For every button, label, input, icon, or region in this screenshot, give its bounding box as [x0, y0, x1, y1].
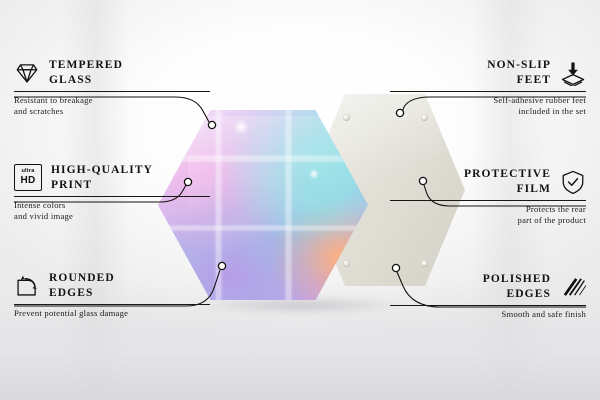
feature-non-slip-feet: NON-SLIP FEET Self-adhesive rubber feet … [390, 58, 586, 117]
feature-title: HIGH-QUALITY PRINT [51, 163, 153, 192]
glass-highlight-sparkle [308, 168, 320, 180]
feature-header: PROTECTIVE FILM [390, 167, 586, 196]
feature-title: ROUNDED EDGES [49, 271, 115, 300]
rubber-foot [343, 260, 350, 267]
feature-header: ultra HD HIGH-QUALITY PRINT [14, 163, 210, 192]
infographic-canvas: TEMPERED GLASS Resistant to breakage and… [0, 0, 600, 400]
feature-divider [390, 305, 586, 306]
feature-divider [14, 91, 210, 92]
feature-polished-edges: POLISHED EDGES Smooth and safe finish [390, 272, 586, 320]
shield-check-icon [560, 169, 586, 195]
feature-divider [390, 91, 586, 92]
feature-title: TEMPERED GLASS [49, 58, 123, 87]
badge-hd-label: HD [20, 176, 35, 186]
feature-header: ROUNDED EDGES [14, 271, 210, 300]
rubber-foot [421, 260, 428, 267]
feature-divider [14, 304, 210, 305]
ultra-hd-badge-icon: ultra HD [14, 164, 42, 191]
feature-description: Prevent potential glass damage [14, 308, 210, 319]
glass-highlight-sparkle [232, 118, 250, 136]
feature-description: Self-adhesive rubber feet included in th… [390, 95, 586, 117]
rounded-corner-icon [14, 273, 40, 299]
feature-tempered-glass: TEMPERED GLASS Resistant to breakage and… [14, 58, 210, 117]
rubber-foot [343, 114, 350, 121]
feature-header: NON-SLIP FEET [390, 58, 586, 87]
feature-protective-film: PROTECTIVE FILM Protects the rear part o… [390, 167, 586, 226]
feature-divider [14, 196, 210, 197]
feature-header: POLISHED EDGES [390, 272, 586, 301]
feature-title: NON-SLIP FEET [487, 58, 551, 87]
feature-description: Resistant to breakage and scratches [14, 95, 210, 117]
feature-description: Protects the rear part of the product [390, 204, 586, 226]
feature-title: PROTECTIVE FILM [464, 167, 551, 196]
feature-high-quality-print: ultra HD HIGH-QUALITY PRINT Intense colo… [14, 163, 210, 222]
badge-ultra-label: ultra [21, 169, 34, 175]
feature-rounded-edges: ROUNDED EDGES Prevent potential glass da… [14, 271, 210, 319]
feature-description: Intense colors and vivid image [14, 200, 210, 222]
feature-description: Smooth and safe finish [390, 309, 586, 320]
diamond-icon [14, 60, 40, 86]
press-down-pad-icon [560, 60, 586, 86]
feature-divider [390, 200, 586, 201]
feature-header: TEMPERED GLASS [14, 58, 210, 87]
feature-title: POLISHED EDGES [483, 272, 551, 301]
diagonal-stripes-icon [560, 274, 586, 300]
